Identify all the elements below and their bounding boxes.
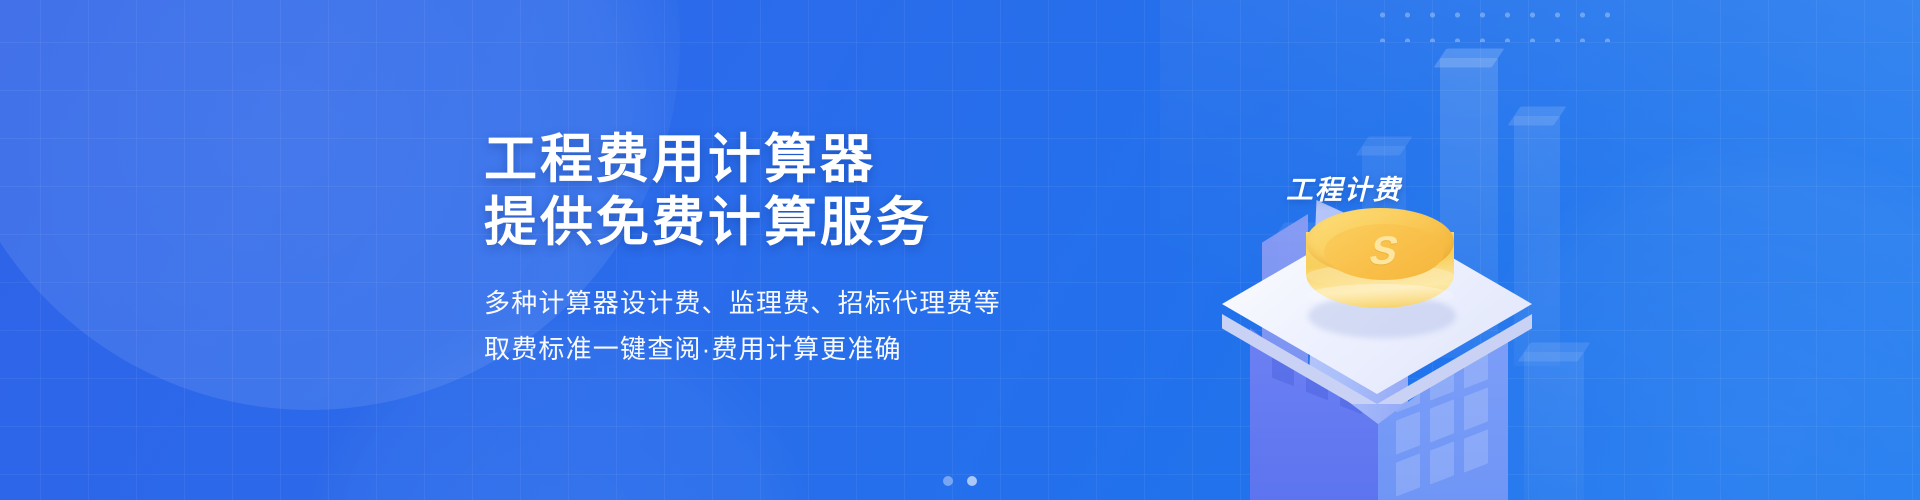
headline-line-2: 提供免费计算服务	[484, 191, 1124, 254]
carousel-dot-1[interactable]	[943, 476, 953, 486]
banner-subtitle: 多种计算器设计费、监理费、招标代理费等 取费标准一键查阅·费用计算更准确	[484, 280, 1124, 372]
coin-ring	[1306, 284, 1454, 308]
carousel-indicators[interactable]	[943, 476, 977, 486]
coin-top-face: S	[1306, 208, 1454, 276]
building-window	[1464, 429, 1488, 472]
coin-inner-face: S	[1324, 224, 1444, 280]
subtitle-line-1: 多种计算器设计费、监理费、招标代理费等	[484, 280, 1124, 326]
page-title: 工程费用计算器 提供免费计算服务	[484, 128, 1124, 254]
banner-illustration: 工程计费	[1110, 0, 1670, 500]
building-window	[1396, 453, 1420, 496]
building-window	[1430, 399, 1454, 442]
subtitle-line-2: 取费标准一键查阅·费用计算更准确	[484, 326, 1124, 372]
building-window	[1396, 411, 1420, 454]
dollar-sign-icon: S	[1366, 231, 1403, 271]
carousel-dot-2[interactable]	[967, 476, 977, 486]
building-window	[1430, 441, 1454, 484]
banner-copy: 工程费用计算器 提供免费计算服务 多种计算器设计费、监理费、招标代理费等 取费标…	[484, 128, 1124, 372]
promo-banner: 工程费用计算器 提供免费计算服务 多种计算器设计费、监理费、招标代理费等 取费标…	[0, 0, 1920, 500]
decor-bar-d	[1524, 352, 1584, 500]
headline-line-1: 工程费用计算器	[484, 130, 876, 189]
gold-coin-icon: S	[1302, 198, 1458, 348]
